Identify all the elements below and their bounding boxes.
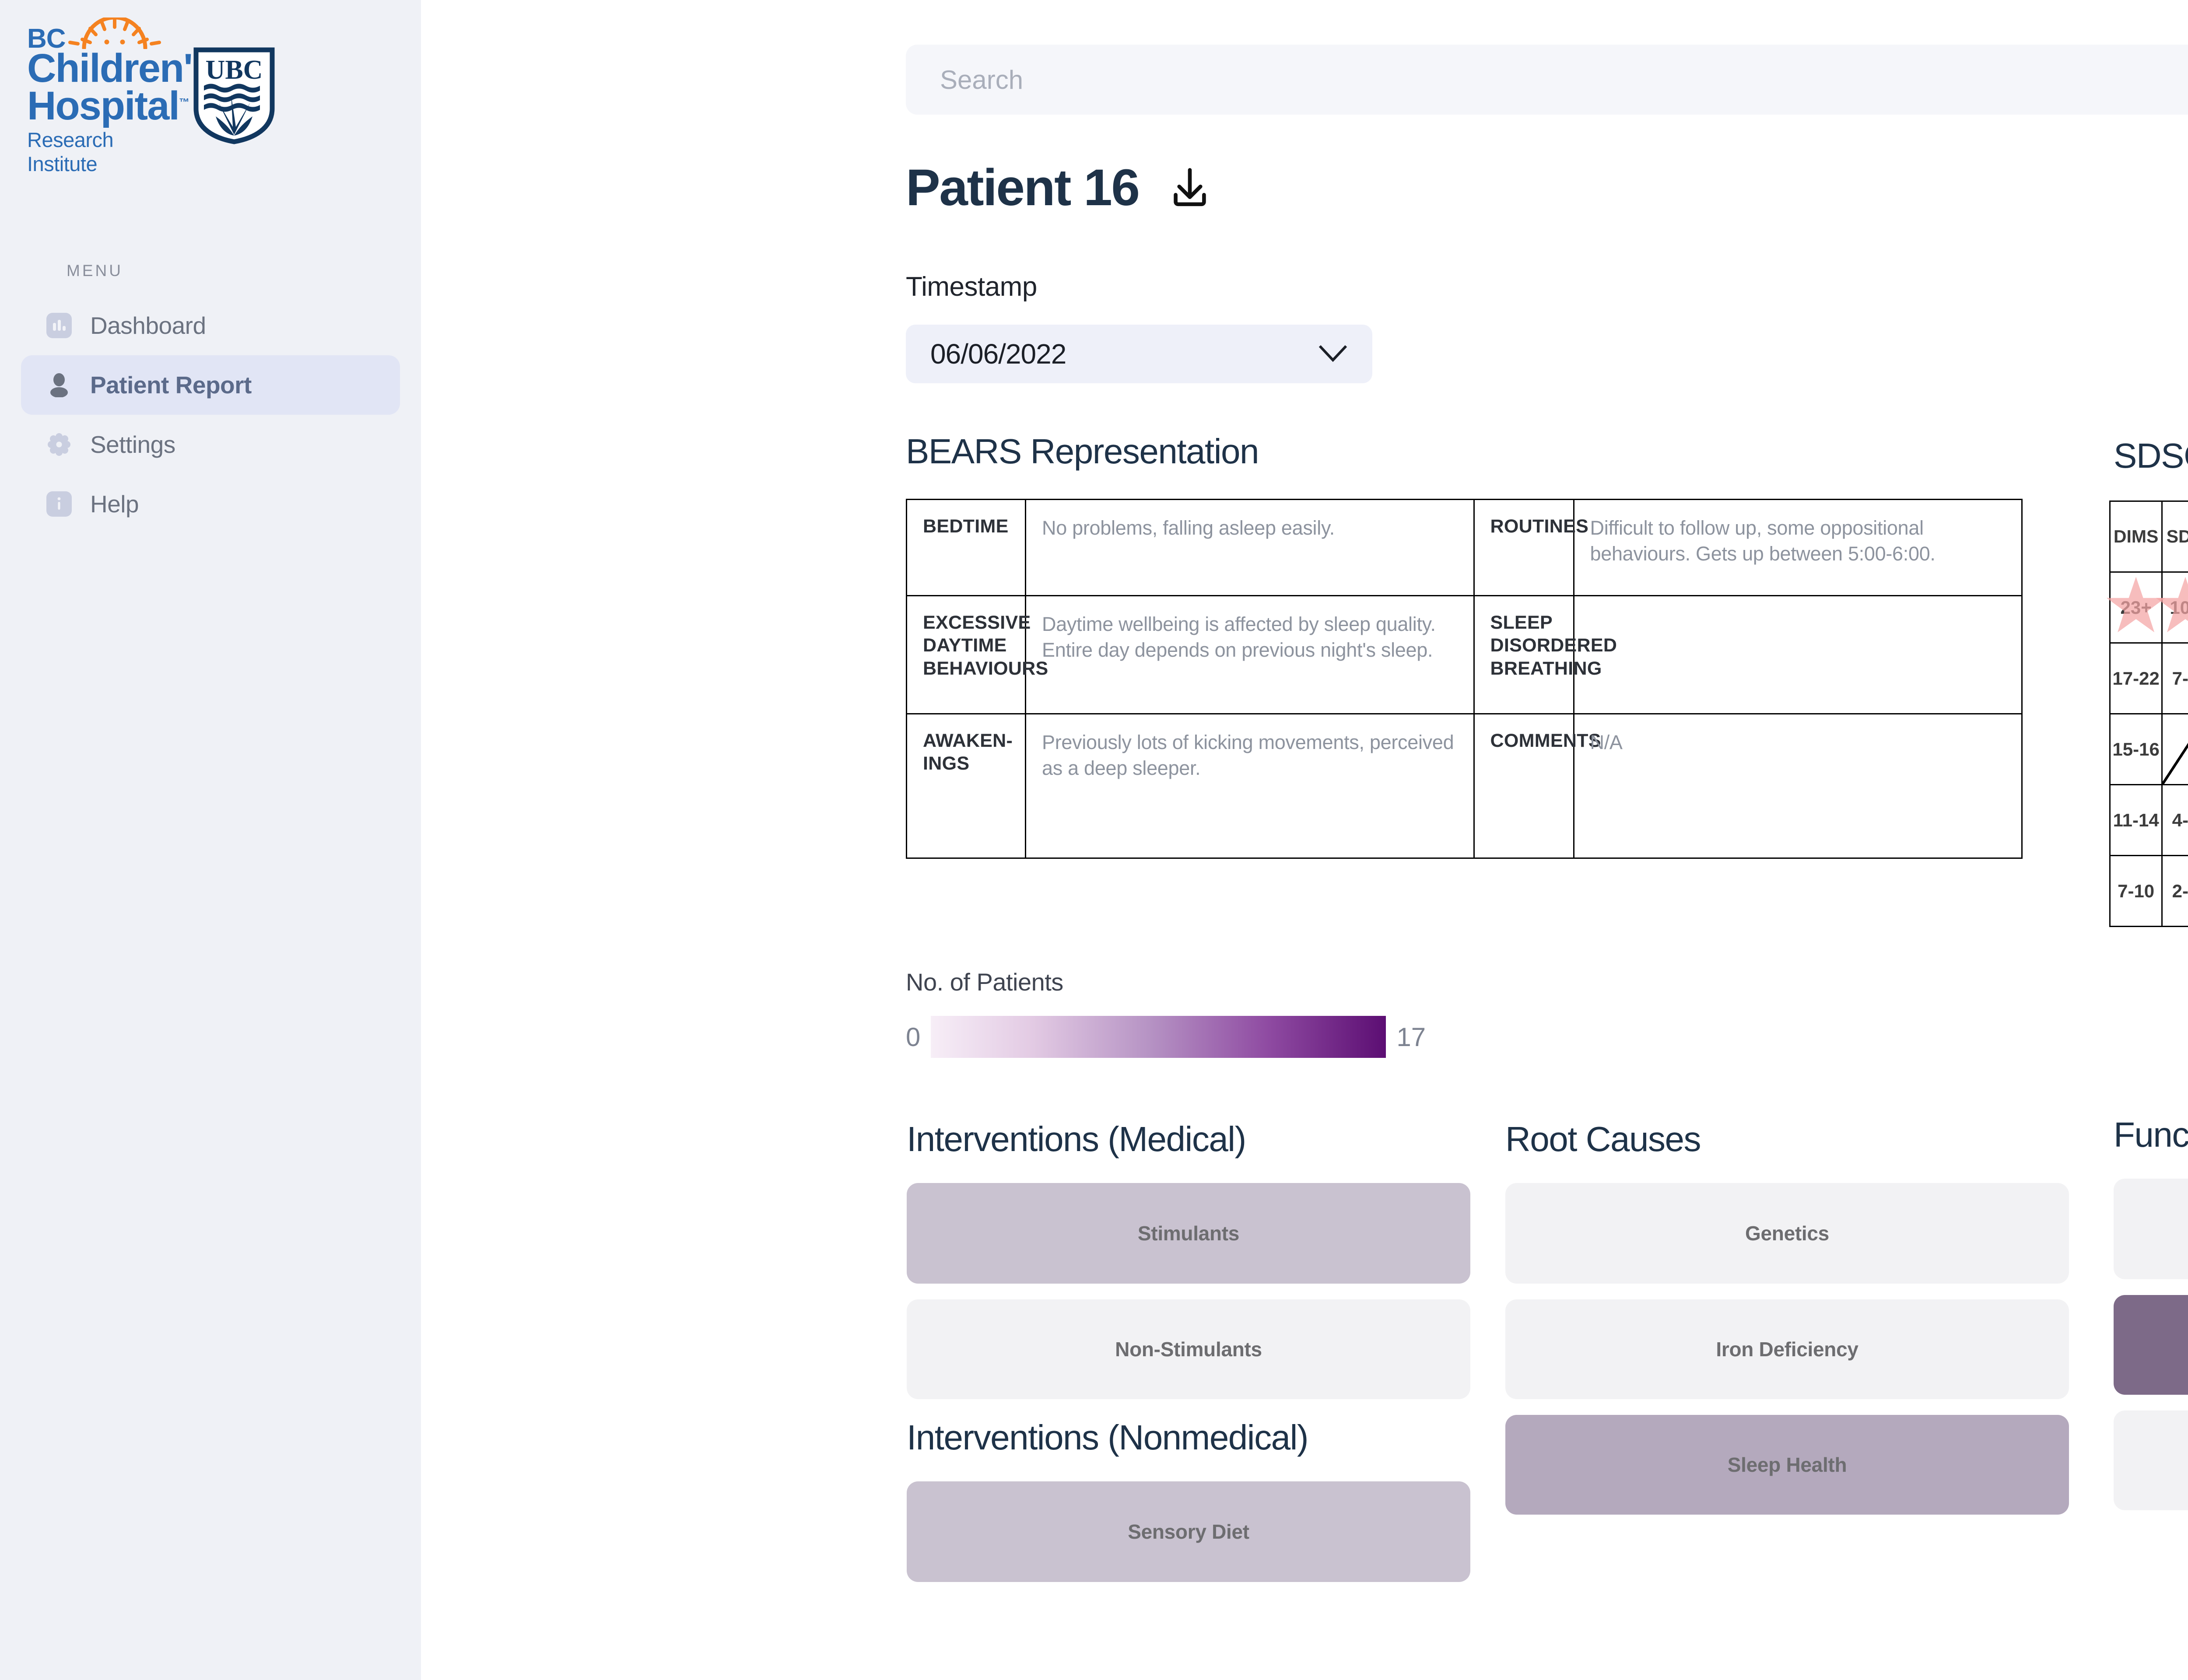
chip-adhd[interactable]: Attention-Deficit Hyperactivity Disorder [2114,1295,2188,1395]
gear-icon [46,431,73,458]
bears-key: EXCESSIVE DAYTIME BEHAVIOURS [907,596,1026,714]
root-causes-heading: Root Causes [1505,1119,2069,1159]
sdsc-cell: 4-6 [2162,785,2188,856]
bcch-subtitle: Research Institute [27,128,172,176]
sdsc-cell: 10+ [2162,572,2188,643]
sdsc-table: DIMS SDB DA SWTD DOES SHY Total T score … [2109,500,2188,927]
info-icon [46,490,73,518]
legend-gradient-bar [931,1016,1386,1058]
search-bar[interactable] [906,45,2188,115]
legend-title: No. of Patients [906,968,1063,996]
bar-chart-icon [46,312,73,339]
chip-non-stimulants[interactable]: Non-Stimulants [907,1299,1470,1399]
table-row: 15-16 5 12-13 12 6 47-51 66-70 [2110,714,2188,785]
ubc-shield-icon: UBC [193,47,276,144]
bears-key: SLEEP DISORDERED BREATHING [1474,596,1574,714]
legend-scale: 0 17 [906,1016,1426,1058]
sdsc-cell: 15-16 [2110,714,2162,785]
timestamp-label: Timestamp [906,271,1037,302]
sidebar-item-patient-report[interactable]: Patient Report [21,355,400,415]
page-title: Patient 16 [906,162,1139,213]
person-icon [46,371,73,399]
bcch-logo: BC Children's Hospital™ Research Institu… [27,17,172,176]
chip-iron-deficiency[interactable]: Iron Deficiency [1505,1299,2069,1399]
sidebar-item-label: Help [90,490,139,518]
chip-sleep-health[interactable]: Sleep Health [1505,1415,2069,1515]
table-header-row: DIMS SDB DA SWTD DOES SHY Total T score [2110,501,2188,572]
table-row: 17-22 7-9 6 14-17 13-17 7-9 52-66 72-90 [2110,643,2188,714]
legend-max-value: 17 [1396,1022,1426,1052]
sidebar-item-dashboard[interactable]: Dashboard [21,296,400,355]
sidebar-item-help[interactable]: Help [21,474,400,534]
chevron-down-icon[interactable] [1317,343,1349,365]
timestamp-value: 06/06/2022 [930,338,1066,370]
sidebar: BC Children's Hospital™ Research Institu… [0,0,421,1680]
chip-ocd[interactable]: Obsessive Compulsive Disorder [2114,1410,2188,1510]
sun-icon [64,17,165,49]
interventions-medical-heading: Interventions (Medical) [907,1119,1470,1159]
table-row: 23+ 10+ 7+ 18+ 18+ 10 68+ 93+ (red) [2110,572,2188,643]
table-row: 11-14 4-6 4 9-11 8-11 3-5 36-46 51-64 [2110,785,2188,856]
bears-value: N/A [1574,714,2022,858]
sidebar-item-label: Settings [90,430,175,458]
sdsc-cell: 17-22 [2110,643,2162,714]
chip-stimulants[interactable]: Stimulants [907,1183,1470,1284]
trademark-symbol: ™ [179,96,189,108]
timestamp-select[interactable]: 06/06/2022 [906,325,1372,383]
functional-diagnoses-heading: Functional Diagnoses [2114,1115,2188,1155]
root-causes-column: Root Causes Genetics Iron Deficiency Sle… [1505,1119,2069,1530]
download-icon[interactable] [1166,164,1214,212]
table-row: BEDTIME No problems, falling asleep easi… [907,500,2022,596]
sdsc-col-header: SDB [2162,501,2188,572]
sdsc-cell: 7-9 [2162,643,2188,714]
bears-heading: BEARS Representation [906,431,1259,472]
table-row: EXCESSIVE DAYTIME BEHAVIOURS Daytime wel… [907,596,2022,714]
bears-value: Previously lots of kicking movements, pe… [1026,714,1474,858]
sdsc-cell: 2-3 [2162,856,2188,927]
bcch-line1: Children's [27,50,172,87]
table-row: AWAKEN-INGS Previously lots of kicking m… [907,714,2022,858]
interventions-column: Interventions (Medical) Stimulants Non-S… [907,1119,1470,1598]
sdsc-col-header: DIMS [2110,501,2162,572]
bcch-line2: Hospital [27,84,179,128]
sdsc-cell: 11-14 [2110,785,2162,856]
functional-diagnoses-column: Functional Diagnoses Autism Spectrum Dis… [2114,1115,2188,1526]
legend-min-value: 0 [906,1022,920,1052]
bears-value: Difficult to follow up, some oppositiona… [1574,500,2022,596]
ubc-logo: UBC [193,47,280,147]
page-title-row: Patient 16 [906,162,1214,213]
bears-key: ROUTINES [1474,500,1574,596]
interventions-nonmedical-heading: Interventions (Nonmedical) [907,1417,1470,1458]
bears-key: COMMENTS [1474,714,1574,858]
table-row: 7-10 2-3 3 6-8 4-7 1-2 26-35 38-50 [2110,856,2188,927]
chip-autism-spectrum-disorder[interactable]: Autism Spectrum Disorder [2114,1179,2188,1279]
bears-value [1574,596,2022,714]
red-star-icon [2105,577,2167,638]
sdsc-cell: 7-10 [2110,856,2162,927]
bears-value: Daytime wellbeing is affected by sleep q… [1026,596,1474,714]
chip-genetics[interactable]: Genetics [1505,1183,2069,1284]
main-content: Patient 16 Timestamp 06/06/2022 [421,0,2188,1680]
sdsc-cell-empty-slash [2162,714,2188,785]
chip-sensory-diet[interactable]: Sensory Diet [907,1481,1470,1582]
sidebar-item-label: Dashboard [90,311,206,339]
app-root: BC Children's Hospital™ Research Institu… [0,0,2188,1680]
sidebar-item-settings[interactable]: Settings [21,415,400,474]
search-input[interactable] [906,65,2188,95]
svg-text:UBC: UBC [206,55,263,85]
menu-label: MENU [67,262,421,280]
bears-key: BEDTIME [907,500,1026,596]
sdsc-cell: 23+ [2110,572,2162,643]
sdsc-heading: SDSC Scale [2114,436,2188,476]
sidebar-nav: Dashboard Patient Report [0,296,421,534]
logo-row: BC Children's Hospital™ Research Institu… [0,0,421,176]
sidebar-item-label: Patient Report [90,371,252,399]
bears-key: AWAKEN-INGS [907,714,1026,858]
bears-table: BEDTIME No problems, falling asleep easi… [906,499,2023,859]
bears-value: No problems, falling asleep easily. [1026,500,1474,596]
